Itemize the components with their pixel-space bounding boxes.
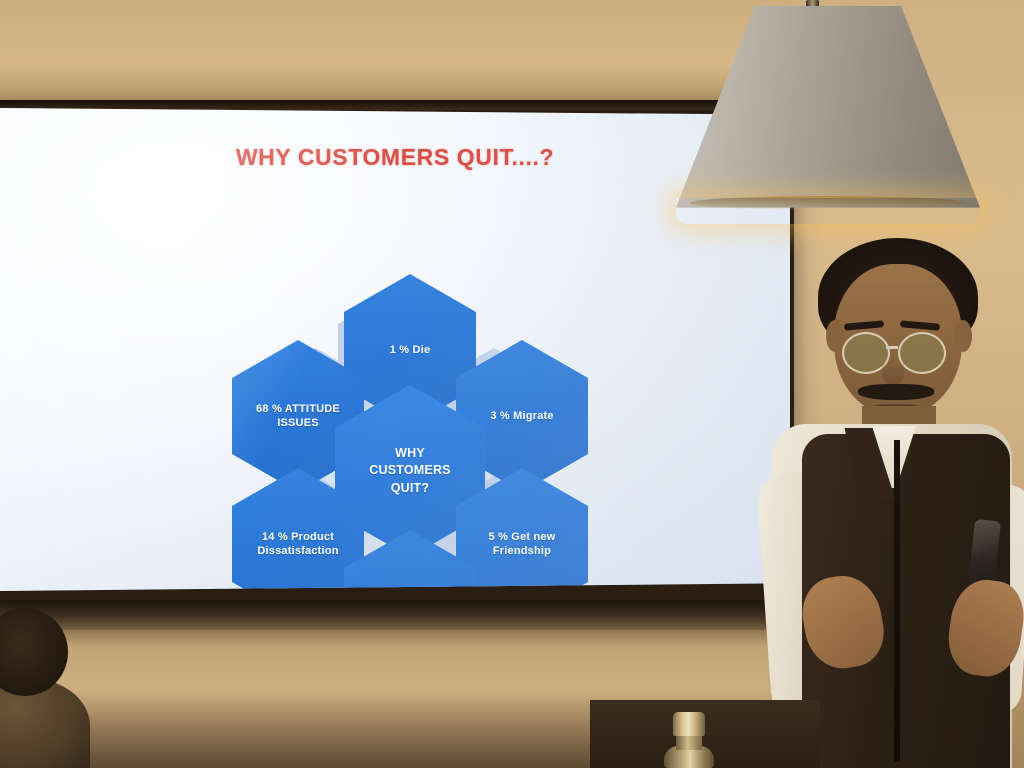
projection-screen-bezel: [0, 100, 794, 110]
center-line-3: QUIT?: [391, 481, 430, 495]
center-line-2: CUSTOMERS: [369, 463, 450, 477]
presenter: [676, 228, 1024, 768]
hexagon-attitude-issues-label: 68 % ATTITUDE ISSUES: [242, 402, 354, 430]
center-line-1: WHY: [395, 446, 425, 460]
presenter-vest-placket: [894, 440, 900, 762]
presentation-slide: WHY CUSTOMERS QUIT....? 1 % Die 68 % ATT…: [0, 108, 790, 591]
presenter-nose: [882, 360, 904, 386]
presenter-eyeglass-right: [898, 332, 946, 374]
presenter-ear-right: [954, 320, 972, 352]
water-bottle-neck: [676, 734, 702, 750]
presentation-photo-scene: WHY CUSTOMERS QUIT....? 1 % Die 68 % ATT…: [0, 0, 1024, 768]
hexagon-migrate-label: 3 % Migrate: [490, 409, 553, 423]
lamp-glow: [676, 198, 980, 224]
water-bottle-cap: [673, 712, 705, 736]
presenter-eyeglass-bridge: [886, 346, 898, 349]
presenter-ear-left: [826, 320, 844, 352]
hexagon-infographic: 1 % Die 68 % ATTITUDE ISSUES 3 % Migrate…: [0, 108, 790, 591]
hexagon-get-new-friendship-label: 5 % Get new Friendship: [466, 530, 578, 558]
hexagon-product-dissatisfaction-label: 14 % Product Dissatisfaction: [242, 530, 354, 558]
hexagon-center-label: WHY CUSTOMERS QUIT?: [369, 445, 450, 498]
hexagon-die-label: 1 % Die: [390, 343, 431, 357]
presenter-mustache: [858, 384, 934, 400]
